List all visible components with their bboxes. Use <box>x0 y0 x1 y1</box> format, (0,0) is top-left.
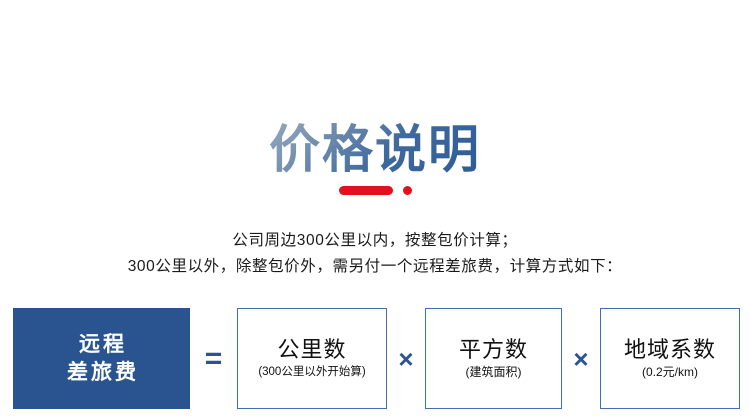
multiply-sign-icon-1: × <box>387 308 425 409</box>
divider-dot-icon <box>403 186 412 195</box>
formula-term-region-coefficient-label: 地域系数 <box>624 336 716 363</box>
description-line-2: 300公里以外，除整包价外，需另付一个远程差旅费，计算方式如下： <box>0 254 750 280</box>
formula-term-kilometers-label: 公里数 <box>277 336 346 363</box>
formula-term-area: 平方数 (建筑面积) <box>425 308 562 409</box>
formula-result-line-1: 远程 <box>76 331 127 359</box>
equals-sign-icon: = <box>190 308 237 409</box>
page-title: 价格说明 <box>269 120 481 180</box>
description-line-1: 公司周边300公里以内，按整包价计算； <box>0 228 750 254</box>
formula-term-kilometers-note: (300公里以外开始算) <box>258 364 365 380</box>
formula-term-area-note: (建筑面积) <box>466 364 522 380</box>
multiply-sign-icon-2: × <box>562 308 600 409</box>
formula-term-region-coefficient-note: (0.2元/km) <box>642 364 698 380</box>
formula-result-line-2: 差旅费 <box>64 359 139 387</box>
formula-result-box: 远程 差旅费 <box>13 308 190 409</box>
formula-term-area-label: 平方数 <box>459 336 528 363</box>
formula-term-region-coefficient: 地域系数 (0.2元/km) <box>600 308 740 409</box>
description: 公司周边300公里以内，按整包价计算； 300公里以外，除整包价外，需另付一个远… <box>0 228 750 280</box>
divider <box>0 184 750 196</box>
divider-bar-icon <box>339 186 393 195</box>
formula-row: 远程 差旅费 = 公里数 (300公里以外开始算) × 平方数 (建筑面积) ×… <box>13 308 740 409</box>
formula-term-kilometers: 公里数 (300公里以外开始算) <box>237 308 387 409</box>
